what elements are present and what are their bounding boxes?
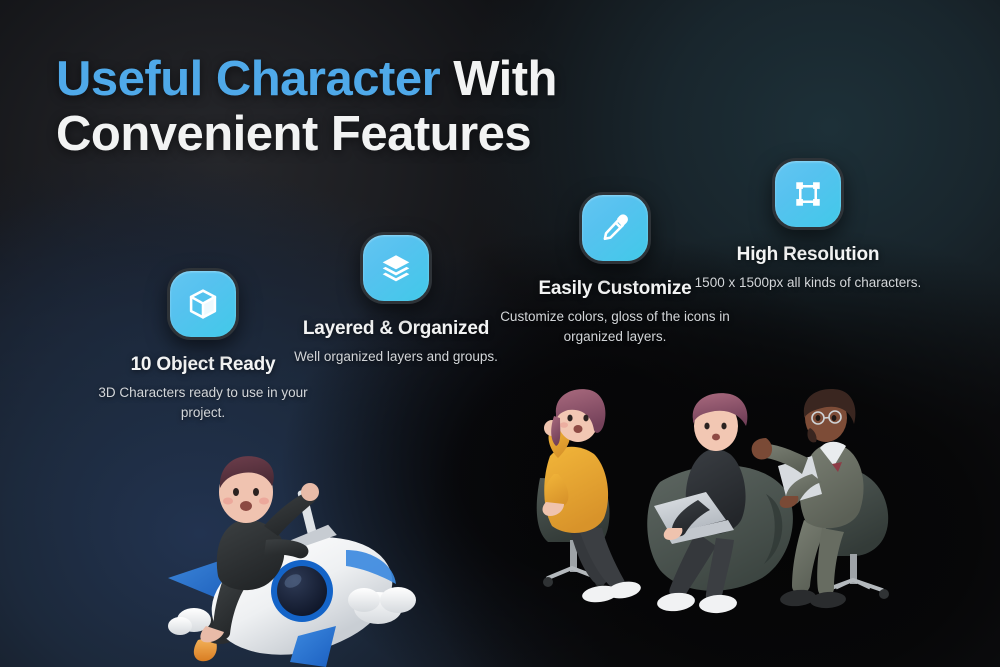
- page-title-accent: Useful Character: [56, 52, 440, 106]
- team-illustration: [520, 382, 920, 642]
- cube-icon: [186, 287, 220, 321]
- feature-icon-tile: [579, 192, 651, 264]
- feature-description: 3D Characters ready to use in your proje…: [88, 383, 318, 422]
- promo-banner: Useful Character With Convenient Feature…: [0, 0, 1000, 667]
- artboard-transform-icon: [792, 178, 824, 210]
- page-title: Useful Character With Convenient Feature…: [56, 52, 676, 162]
- layers-icon: [379, 251, 413, 285]
- page-title-line2: Convenient Features: [56, 107, 531, 161]
- feature-icon-tile: [772, 158, 844, 230]
- feature-icon-tile: [360, 232, 432, 304]
- feature-card-high-resolution: High Resolution 1500 x 1500px all kinds …: [693, 158, 923, 293]
- feature-title: High Resolution: [693, 244, 923, 266]
- eyedropper-icon: [599, 212, 631, 244]
- rocket-illustration: [150, 430, 450, 667]
- feature-title: Layered & Organized: [281, 318, 511, 340]
- feature-description: Well organized layers and groups.: [281, 347, 511, 367]
- feature-card-layered-organized: Layered & Organized Well organized layer…: [281, 232, 511, 367]
- feature-description: Customize colors, gloss of the icons in …: [500, 307, 730, 346]
- page-title-line1-rest: With: [440, 52, 557, 106]
- feature-description: 1500 x 1500px all kinds of characters.: [693, 273, 923, 293]
- feature-icon-tile: [167, 268, 239, 340]
